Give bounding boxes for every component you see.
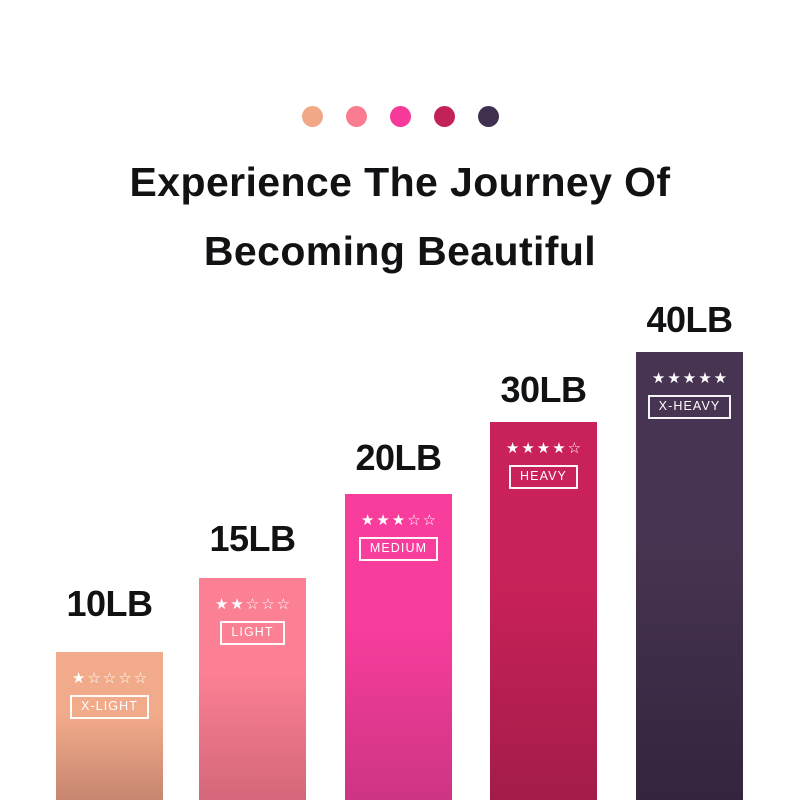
star-filled-icon: ★ xyxy=(714,371,727,386)
star-filled-icon: ★ xyxy=(698,371,711,386)
star-empty-icon: ☆ xyxy=(134,671,147,686)
star-empty-icon: ☆ xyxy=(423,513,436,528)
star-rating: ★★☆☆☆ xyxy=(215,597,290,612)
resistance-level-badge: MEDIUM xyxy=(359,537,438,561)
bar-column[interactable]: ★★★★★X-HEAVY xyxy=(636,352,743,800)
bar-group-15lb[interactable]: 15LB★★☆☆☆LIGHT xyxy=(199,0,306,800)
star-empty-icon: ☆ xyxy=(568,441,581,456)
bar-weight-label: 10LB xyxy=(66,586,152,622)
star-empty-icon: ☆ xyxy=(118,671,131,686)
bar-badge-stack: ★☆☆☆☆X-LIGHT xyxy=(56,652,163,719)
promo-graphic: Experience The Journey Of Becoming Beaut… xyxy=(0,0,800,800)
bar-group-20lb[interactable]: 20LB★★★☆☆MEDIUM xyxy=(345,0,452,800)
bar-group-40lb[interactable]: 40LB★★★★★X-HEAVY xyxy=(636,0,743,800)
bar-badge-stack: ★★★★☆HEAVY xyxy=(490,422,597,489)
star-empty-icon: ☆ xyxy=(277,597,290,612)
bar-weight-label: 20LB xyxy=(355,440,441,476)
star-rating: ★★★★☆ xyxy=(506,441,581,456)
bar-badge-stack: ★★☆☆☆LIGHT xyxy=(199,578,306,645)
resistance-level-badge: HEAVY xyxy=(509,465,578,489)
star-empty-icon: ☆ xyxy=(103,671,116,686)
bar-weight-label: 30LB xyxy=(500,372,586,408)
star-empty-icon: ☆ xyxy=(246,597,259,612)
star-filled-icon: ★ xyxy=(683,371,696,386)
star-rating: ★★★☆☆ xyxy=(361,513,436,528)
star-filled-icon: ★ xyxy=(215,597,228,612)
bar-weight-label: 15LB xyxy=(209,521,295,557)
bar-badge-stack: ★★★☆☆MEDIUM xyxy=(345,494,452,561)
star-filled-icon: ★ xyxy=(72,671,85,686)
star-filled-icon: ★ xyxy=(521,441,534,456)
bar-badge-stack: ★★★★★X-HEAVY xyxy=(636,352,743,419)
star-rating: ★☆☆☆☆ xyxy=(72,671,147,686)
bar-weight-label: 40LB xyxy=(646,302,732,338)
resistance-level-badge: X-HEAVY xyxy=(648,395,732,419)
bar-group-10lb[interactable]: 10LB★☆☆☆☆X-LIGHT xyxy=(56,0,163,800)
star-empty-icon: ☆ xyxy=(261,597,274,612)
star-filled-icon: ★ xyxy=(230,597,243,612)
star-filled-icon: ★ xyxy=(361,513,374,528)
bar-column[interactable]: ★★★★☆HEAVY xyxy=(490,422,597,800)
bar-group-30lb[interactable]: 30LB★★★★☆HEAVY xyxy=(490,0,597,800)
star-rating: ★★★★★ xyxy=(652,371,727,386)
bar-column[interactable]: ★☆☆☆☆X-LIGHT xyxy=(56,652,163,800)
bar-column[interactable]: ★★★☆☆MEDIUM xyxy=(345,494,452,800)
resistance-level-badge: X-LIGHT xyxy=(70,695,149,719)
star-filled-icon: ★ xyxy=(392,513,405,528)
star-filled-icon: ★ xyxy=(376,513,389,528)
star-filled-icon: ★ xyxy=(552,441,565,456)
star-filled-icon: ★ xyxy=(537,441,550,456)
bar-column[interactable]: ★★☆☆☆LIGHT xyxy=(199,578,306,800)
resistance-level-badge: LIGHT xyxy=(220,621,284,645)
resistance-band-bar-chart: 10LB★☆☆☆☆X-LIGHT15LB★★☆☆☆LIGHT20LB★★★☆☆M… xyxy=(0,0,800,800)
star-filled-icon: ★ xyxy=(667,371,680,386)
star-filled-icon: ★ xyxy=(506,441,519,456)
star-filled-icon: ★ xyxy=(652,371,665,386)
star-empty-icon: ☆ xyxy=(407,513,420,528)
star-empty-icon: ☆ xyxy=(87,671,100,686)
